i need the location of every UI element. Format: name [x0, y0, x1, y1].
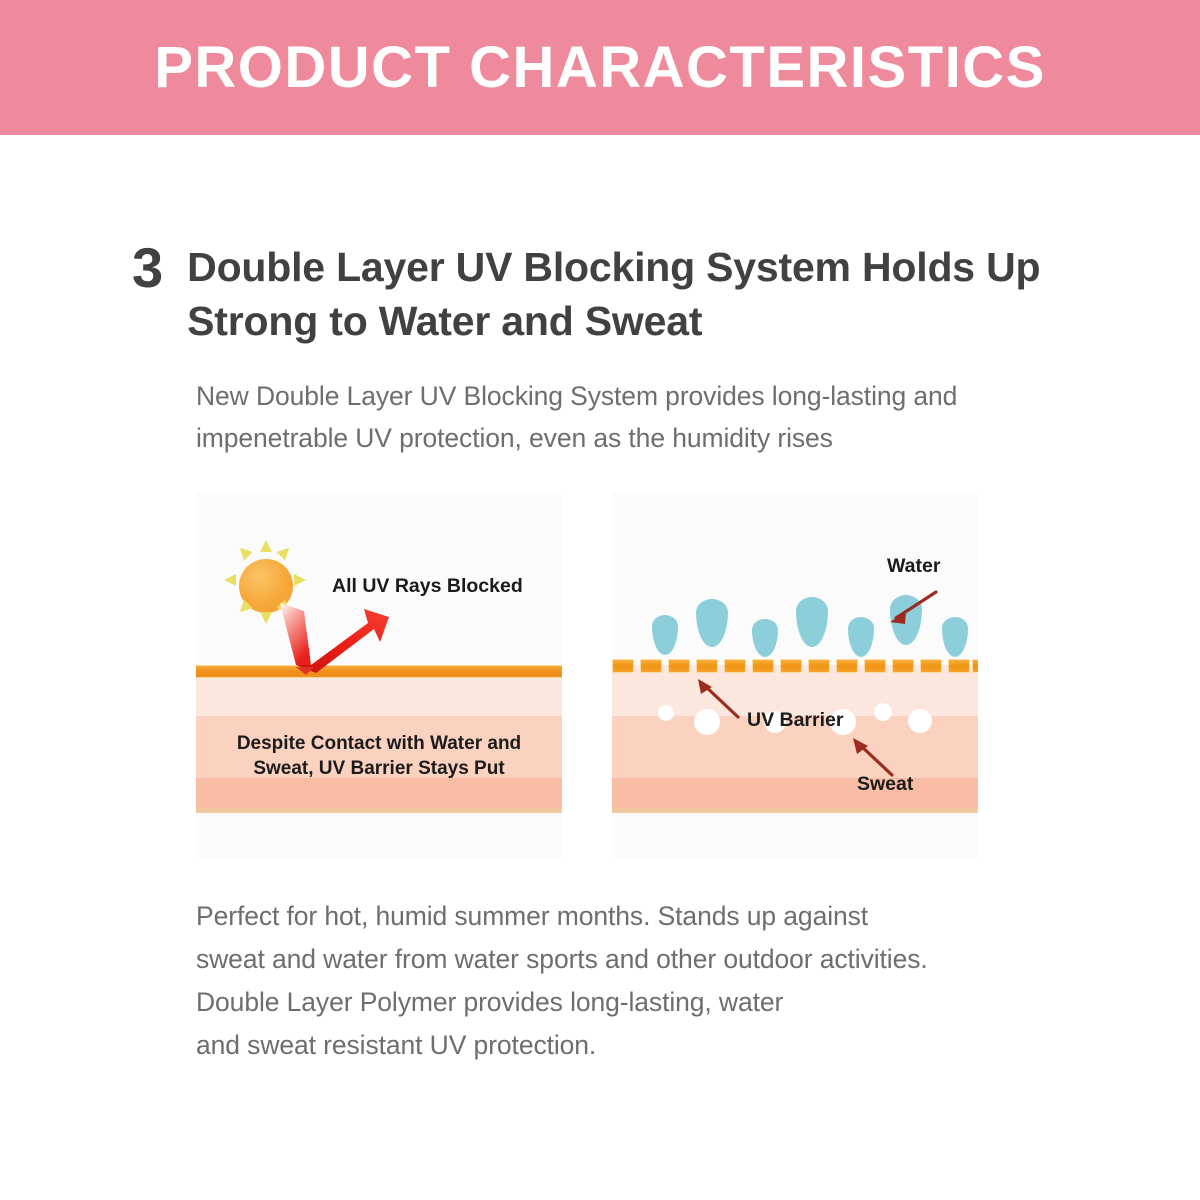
uv-barrier-pointer-arrow-icon [690, 675, 750, 721]
skin-layer-base [612, 808, 978, 813]
water-droplet [696, 599, 728, 647]
water-pointer-arrow-icon [882, 588, 942, 630]
sun-ray [224, 574, 236, 586]
sweat-bubble [874, 703, 892, 721]
uv-barrier-label: UV Barrier [747, 709, 843, 732]
sweat-bubble [658, 705, 674, 721]
body-line-4: and sweat resistant UV protection. [196, 1024, 1076, 1067]
left-panel-caption: Despite Contact with Water and Sweat, UV… [196, 731, 562, 781]
skin-cross-section-right [612, 665, 978, 813]
left-caption-line-1: Despite Contact with Water and [237, 733, 521, 754]
page-header-banner: PRODUCT CHARACTERISTICS [0, 0, 1200, 135]
section-heading-row: 3 Double Layer UV Blocking System Holds … [132, 240, 1092, 348]
page-title: PRODUCT CHARACTERISTICS [154, 39, 1046, 97]
water-droplet [848, 617, 874, 657]
skin-layer-base [196, 808, 562, 813]
skin-layer-top [196, 678, 562, 716]
water-droplet [752, 619, 778, 657]
water-label: Water [887, 555, 940, 578]
left-caption-line-2: Sweat, UV Barrier Stays Put [253, 758, 504, 779]
illustration-panel-right: Water UV Barrier Sweat [612, 493, 978, 858]
sun-ray [294, 574, 306, 586]
water-droplet [652, 615, 678, 655]
sweat-pointer-arrow-icon [844, 733, 904, 779]
water-droplet [942, 617, 968, 657]
uv-barrier-dashed [612, 659, 978, 675]
uv-ray-bounce-arrow-icon [256, 603, 446, 683]
skin-layer-bottom [612, 778, 978, 808]
sweat-bubble [908, 709, 932, 733]
section-subtitle: New Double Layer UV Blocking System prov… [196, 375, 1026, 459]
all-uv-rays-blocked-label: All UV Rays Blocked [332, 575, 523, 598]
section-heading: Double Layer UV Blocking System Holds Up… [187, 240, 1087, 348]
sun-ray [277, 544, 294, 561]
water-droplet [796, 597, 828, 647]
body-paragraph: Perfect for hot, humid summer months. St… [196, 895, 1076, 1067]
body-line-3: Double Layer Polymer provides long-lasti… [196, 981, 1076, 1024]
body-line-2: sweat and water from water sports and ot… [196, 938, 1076, 981]
product-characteristics-page: PRODUCT CHARACTERISTICS 3 Double Layer U… [0, 0, 1200, 1200]
sun-ray [260, 540, 272, 552]
illustration-panel-left: Despite Contact with Water and Sweat, UV… [196, 493, 562, 858]
body-line-1: Perfect for hot, humid summer months. St… [196, 895, 1076, 938]
step-number: 3 [132, 240, 163, 296]
skin-layer-bottom [196, 778, 562, 808]
sun-ray [236, 544, 253, 561]
